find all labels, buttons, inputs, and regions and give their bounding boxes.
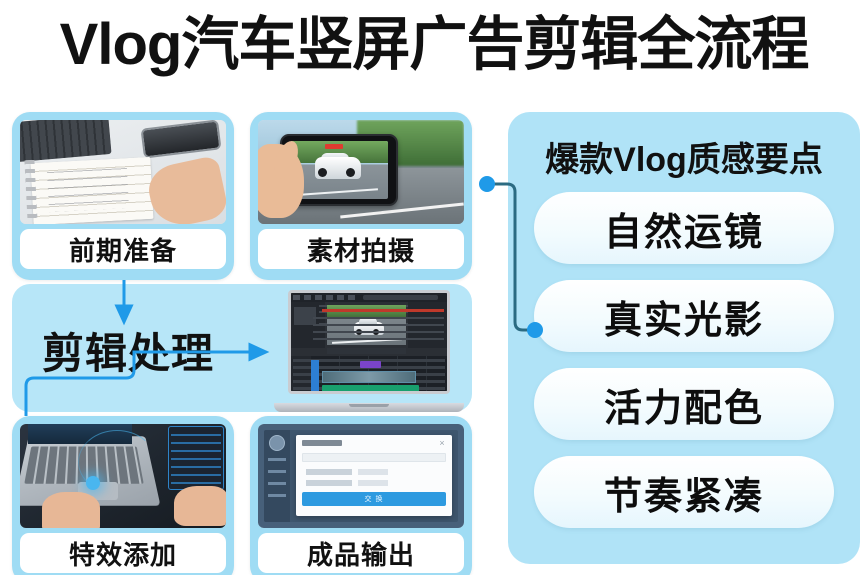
filming-scene: [258, 120, 464, 224]
laptop-notch: [349, 404, 389, 407]
dialog-input-field[interactable]: [302, 453, 446, 462]
page-title: Vlog汽车竖屏广告剪辑全流程: [0, 8, 868, 82]
flow-card-prep[interactable]: 前期准备: [12, 112, 234, 280]
edit-stage-panel: 剪辑处理: [12, 284, 472, 412]
left-hand-icon: [42, 492, 100, 528]
laptop-screen: [288, 290, 450, 394]
timeline-clip-green: [322, 385, 419, 392]
flow-card-effect[interactable]: 特效添加: [12, 416, 234, 575]
highlight-pill-3[interactable]: 活力配色: [534, 368, 834, 440]
app-window: × 交 换: [264, 430, 458, 522]
export-dialog: × 交 换: [296, 435, 452, 516]
glow-dot-icon: [86, 476, 100, 490]
dialog-row-2-label: [306, 480, 352, 486]
effect-photo: [20, 424, 226, 528]
editor-scrubber: [327, 348, 407, 354]
dialog-title: [302, 440, 342, 446]
flow-card-shoot-label: 素材拍摄: [258, 229, 464, 269]
highlights-title: 爆款Vlog质感要点: [508, 132, 860, 181]
editor-properties-list: [313, 317, 444, 343]
avatar: [269, 435, 285, 451]
dialog-submit-button[interactable]: 交 换: [302, 492, 446, 506]
export-photo: × 交 换: [258, 424, 464, 528]
flow-card-prep-label: 前期准备: [20, 229, 226, 269]
dialog-row-1-label: [306, 469, 352, 475]
timeline-audio-meter: [311, 360, 319, 393]
highlight-pill-1[interactable]: 自然运镜: [534, 192, 834, 264]
infographic-root: Vlog汽车竖屏广告剪辑全流程 前期准备: [0, 0, 868, 575]
highlights-panel: 爆款Vlog质感要点 自然运镜 真实光影 活力配色 节奏紧凑: [508, 112, 860, 564]
highlights-list: 自然运镜 真实光影 活力配色 节奏紧凑: [534, 192, 834, 544]
flow-card-export[interactable]: × 交 换 成品输出: [250, 416, 472, 575]
phone-screen: [290, 141, 388, 199]
handwriting-lines: [47, 168, 129, 212]
editor-search-bar: [363, 295, 438, 300]
highlight-pill-4[interactable]: 节奏紧凑: [534, 456, 834, 528]
link-dot-start: [479, 176, 495, 192]
prep-photo: [20, 120, 226, 224]
keyboard-icon: [20, 120, 112, 162]
dialog-row-2-value: [358, 480, 388, 486]
side-screen-rows: [171, 434, 221, 484]
editor-menu-items: [293, 295, 359, 300]
shoot-photo: [258, 120, 464, 224]
right-hand-icon: [174, 486, 226, 526]
hand-icon: [144, 155, 226, 224]
screen-lane-line: [300, 188, 378, 195]
typing-scene: [20, 424, 226, 528]
editor-timeline: [291, 356, 447, 394]
highlight-pill-2[interactable]: 真实光影: [534, 280, 834, 352]
timeline-clip-filmstrip: [322, 371, 416, 383]
laptop-icon: [274, 290, 464, 412]
flow-card-effect-label: 特效添加: [20, 533, 226, 573]
car-wheel-rear: [346, 168, 355, 177]
record-indicator-icon: [325, 144, 343, 149]
phone-icon: [140, 120, 221, 159]
editor-alert-bar: [322, 309, 444, 312]
sidebar-nav-items: [268, 458, 286, 504]
edit-stage-label: 剪辑处理: [42, 320, 214, 381]
desk-scene: [20, 120, 226, 224]
flow-card-export-label: 成品输出: [258, 533, 464, 573]
export-app-scene: × 交 换: [258, 424, 464, 528]
workflow-flow-column: 前期准备: [8, 108, 478, 568]
flow-card-shoot[interactable]: 素材拍摄: [250, 112, 472, 280]
timeline-clip-purple: [360, 361, 382, 368]
dialog-row-1-value: [358, 469, 388, 475]
close-icon[interactable]: ×: [438, 439, 446, 447]
